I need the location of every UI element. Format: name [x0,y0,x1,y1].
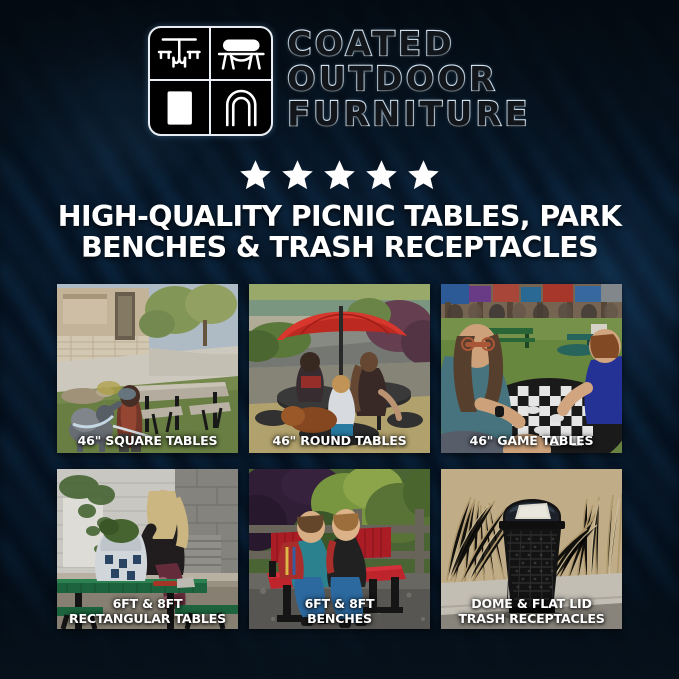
product-tile-square-tables[interactable]: 46" SQUARE TABLES [57,284,238,453]
brand-line-2: OUTDOOR [287,62,530,96]
product-tile-rectangular-tables[interactable]: 6FT & 8FT RECTANGULAR TABLES [57,469,238,629]
product-tile-round-tables[interactable]: 46" ROUND TABLES [249,284,430,453]
product-photo-round-tables [249,284,430,453]
trash-receptacle-icon [150,81,211,134]
star-icon-2 [280,158,315,192]
headline-line-2: BENCHES & TRASH RECEPTACLES [0,232,679,263]
product-caption: 46" ROUND TABLES [253,434,426,449]
park-bench-icon [211,28,272,81]
bike-rack-icon [211,81,272,134]
product-tile-game-tables[interactable]: 46" GAME TABLES [441,284,622,453]
product-caption: 6FT & 8FT BENCHES [253,597,426,626]
product-caption: DOME & FLAT LID TRASH RECEPTACLES [445,597,618,626]
star-icon-4 [364,158,399,192]
brand-logo: COATED OUTDOOR FURNITURE [0,26,679,136]
product-photo-game-tables [441,284,622,453]
logo-icon-grid [148,26,273,136]
star-icon-5 [406,158,441,192]
product-grid: 46" SQUARE TABLES [57,284,622,629]
star-icon-1 [238,158,273,192]
star-icon-3 [322,158,357,192]
poster-canvas: COATED OUTDOOR FURNITURE HIGH-QUALITY PI… [0,0,679,679]
star-rating [0,158,679,192]
product-caption: 6FT & 8FT RECTANGULAR TABLES [61,597,234,626]
brand-wordmark: COATED OUTDOOR FURNITURE [287,26,530,131]
product-tile-trash-receptacles[interactable]: DOME & FLAT LID TRASH RECEPTACLES [441,469,622,629]
brand-line-1: COATED [287,27,530,61]
page-title: HIGH-QUALITY PICNIC TABLES, PARK BENCHES… [0,201,679,263]
headline-line-1: HIGH-QUALITY PICNIC TABLES, PARK [0,201,679,232]
picnic-table-icon [150,28,211,81]
product-caption: 46" SQUARE TABLES [61,434,234,449]
brand-line-3: FURNITURE [287,97,530,131]
product-photo-square-tables [57,284,238,453]
product-caption: 46" GAME TABLES [445,434,618,449]
product-tile-benches[interactable]: 6FT & 8FT BENCHES [249,469,430,629]
